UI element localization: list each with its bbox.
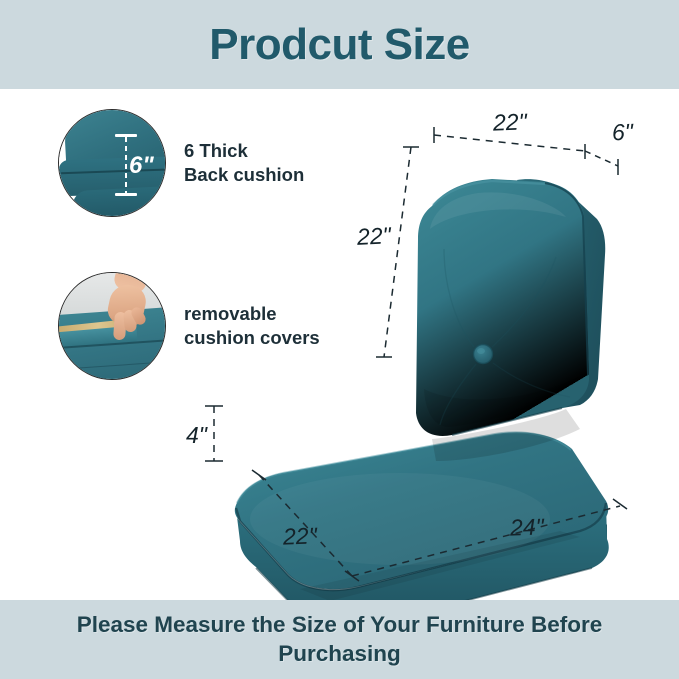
header-banner: Prodcut Size (0, 0, 679, 89)
dimension-label-seat-thickness: 4" (186, 422, 207, 449)
product-illustration: 22" 6" 22" 4" 22" 24" (0, 89, 679, 600)
dimension-label-seat-width: 22" (283, 522, 318, 550)
footer-message: Please Measure the Size of Your Furnitur… (30, 611, 650, 669)
dimension-label-back-depth: 6" (612, 119, 634, 147)
page-title: Prodcut Size (209, 20, 470, 70)
dimension-label-back-height: 22" (356, 222, 391, 251)
dimension-label-back-width: 22" (493, 108, 528, 136)
dimension-label-seat-depth: 24" (510, 513, 545, 541)
product-size-infographic: Prodcut Size 6" 6 Thick Back cushion (0, 0, 679, 679)
footer-banner: Please Measure the Size of Your Furnitur… (0, 600, 679, 679)
main-illustration-area: 6" 6 Thick Back cushion (0, 89, 679, 600)
